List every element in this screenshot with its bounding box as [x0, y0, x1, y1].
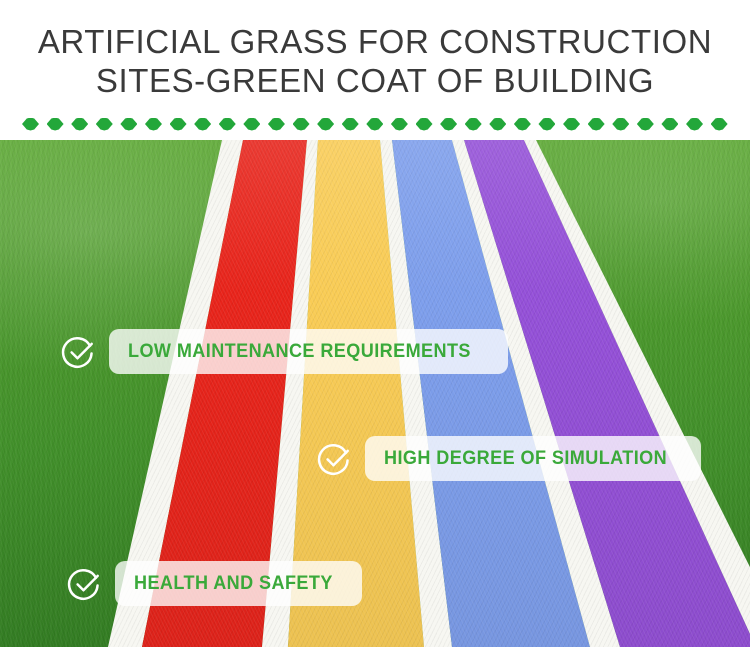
diamond-icon [711, 118, 728, 131]
diamond-icon [637, 118, 654, 131]
product-feature-banner: ARTIFICIAL GRASS FOR CONSTRUCTION SITES-… [0, 0, 750, 647]
diamond-icon [514, 118, 531, 131]
diamond-icon [661, 118, 678, 131]
check-circle-icon [60, 333, 98, 371]
check-circle-icon [316, 440, 354, 478]
feature-badge: LOW MAINTENANCE REQUIREMENTS [109, 329, 508, 374]
diamond-icon [416, 118, 433, 131]
diamond-icon [391, 118, 408, 131]
feature-label: HEALTH AND SAFETY [134, 574, 333, 593]
diamond-icon [588, 118, 605, 131]
diamond-icon [293, 118, 310, 131]
diamond-icon [47, 118, 64, 131]
diamond-icon [366, 118, 383, 131]
check-circle-icon [66, 565, 104, 603]
track-photo: LOW MAINTENANCE REQUIREMENTS HIGH DEGREE… [0, 140, 750, 647]
diamond-icon [440, 118, 457, 131]
diamond-icon [120, 118, 137, 131]
diamond-icon [465, 118, 482, 131]
diamond-icon [686, 118, 703, 131]
banner-header: ARTIFICIAL GRASS FOR CONSTRUCTION SITES-… [0, 0, 750, 140]
feature-item: LOW MAINTENANCE REQUIREMENTS [60, 329, 508, 374]
diamond-icon [317, 118, 334, 131]
diamond-icon [538, 118, 555, 131]
diamond-icon [243, 118, 260, 131]
diamond-icon [145, 118, 162, 131]
page-title: ARTIFICIAL GRASS FOR CONSTRUCTION SITES-… [0, 22, 750, 100]
diamond-divider [22, 114, 728, 134]
diamond-icon [22, 118, 39, 131]
diamond-icon [219, 118, 236, 131]
diamond-icon [71, 118, 88, 131]
diamond-icon [489, 118, 506, 131]
diamond-icon [612, 118, 629, 131]
feature-label: LOW MAINTENANCE REQUIREMENTS [128, 342, 471, 361]
diamond-icon [194, 118, 211, 131]
feature-item: HEALTH AND SAFETY [66, 561, 362, 606]
diamond-icon [563, 118, 580, 131]
diamond-icon [96, 118, 113, 131]
feature-item: HIGH DEGREE OF SIMULATION [316, 436, 701, 481]
diamond-icon [170, 118, 187, 131]
diamond-icon [342, 118, 359, 131]
feature-badge: HEALTH AND SAFETY [115, 561, 362, 606]
feature-label: HIGH DEGREE OF SIMULATION [384, 449, 667, 468]
diamond-icon [268, 118, 285, 131]
feature-badge: HIGH DEGREE OF SIMULATION [365, 436, 701, 481]
